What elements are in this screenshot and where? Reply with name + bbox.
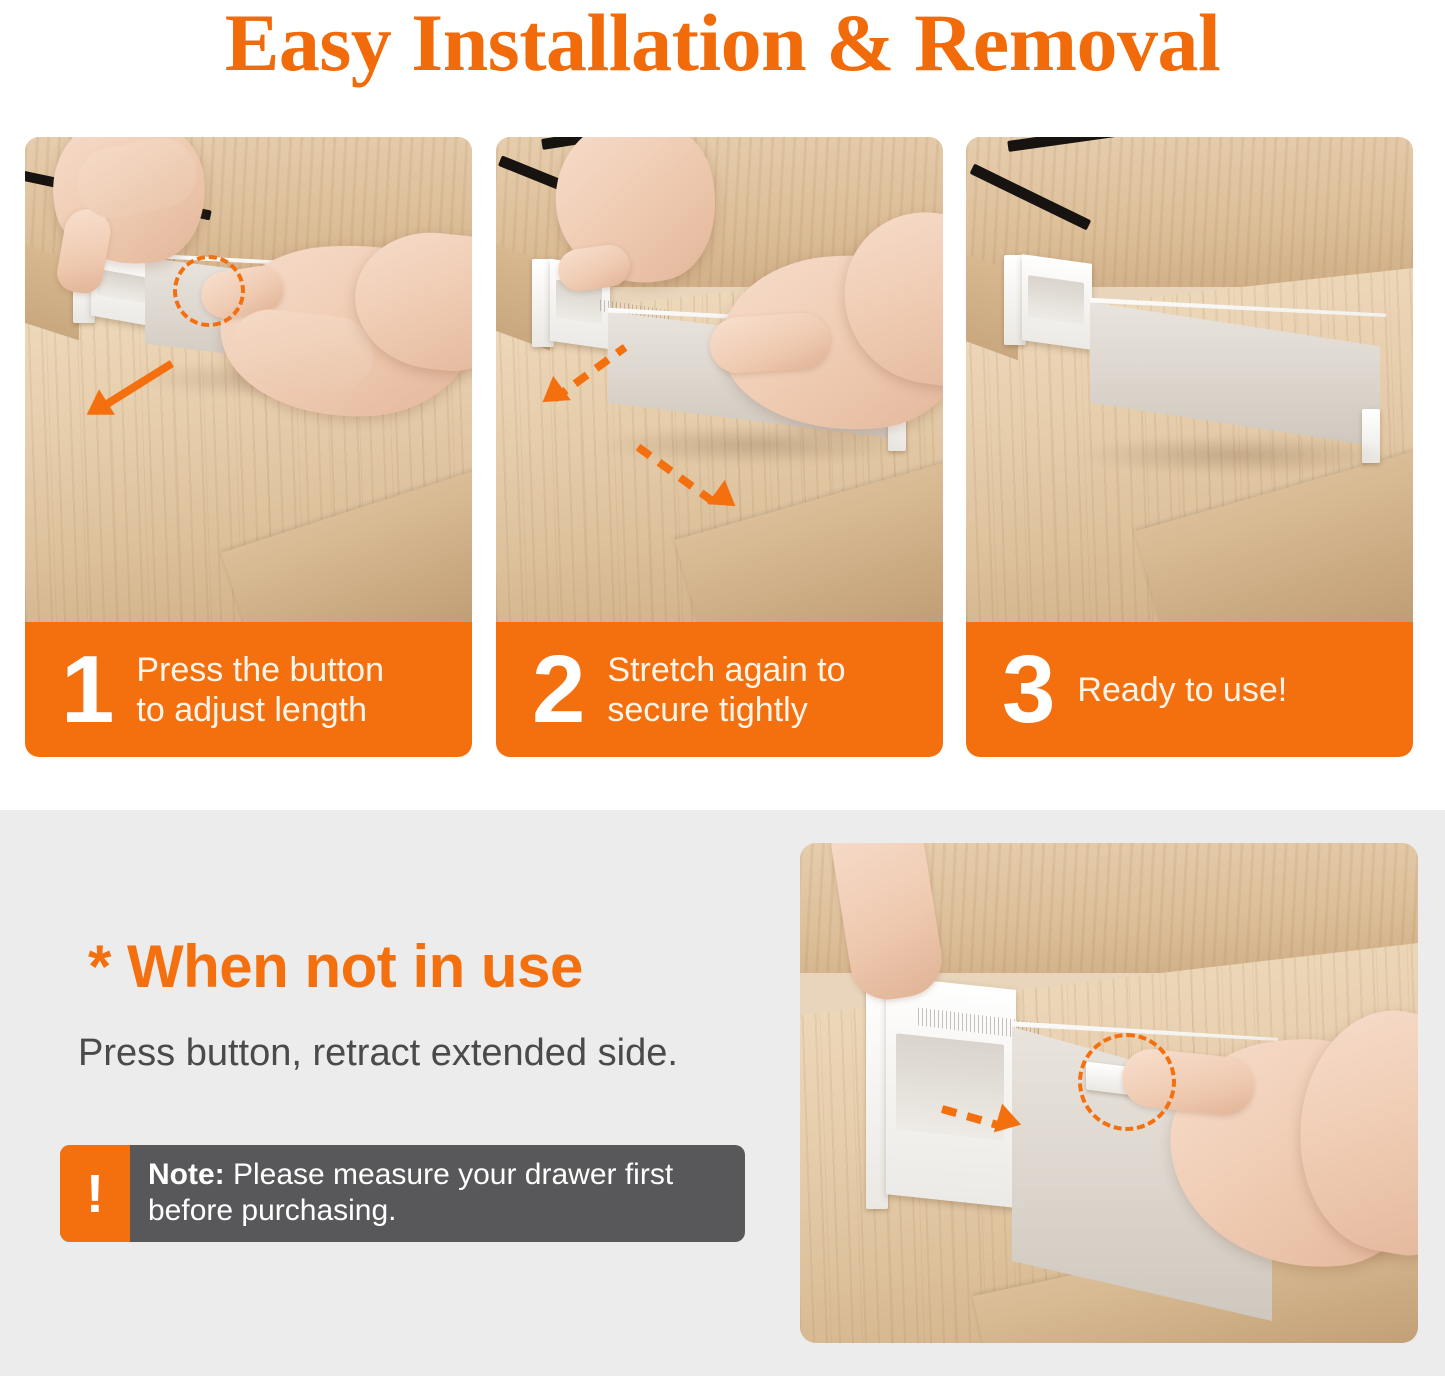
retract-photo	[800, 843, 1418, 1343]
direction-arrow-left	[81, 375, 189, 439]
note-text: Note: Please measure your drawer first b…	[130, 1145, 745, 1242]
divider-arm-groove	[1028, 275, 1084, 325]
direction-arrow-up-left	[532, 355, 652, 435]
step-3-photo	[966, 137, 1413, 622]
step-3-caption-bar: 3 Ready to use!	[966, 622, 1413, 757]
step-1-photo	[25, 137, 472, 622]
step-3-number: 3	[1002, 642, 1055, 738]
divider-shadow	[1076, 435, 1396, 475]
step-1-number: 1	[61, 642, 114, 738]
when-not-in-use-heading: * When not in use	[88, 932, 583, 1001]
retract-subtitle: Press button, retract extended side.	[78, 1032, 678, 1075]
step-1-caption: Press the button to adjust length	[136, 650, 472, 730]
step-card-3: 3 Ready to use!	[966, 137, 1413, 757]
note-body: Please measure your drawer first before …	[148, 1158, 673, 1227]
step-2-number: 2	[532, 642, 585, 738]
step-2-caption-bar: 2 Stretch again to secure tightly	[496, 622, 943, 757]
exclamation-icon: !	[60, 1145, 130, 1242]
step-1-caption-bar: 1 Press the button to adjust length	[25, 622, 472, 757]
note-label: Note:	[148, 1158, 225, 1191]
exclamation-glyph: !	[86, 1167, 104, 1221]
page-title: Easy Installation & Removal	[0, 0, 1445, 90]
step-card-1: 1 Press the button to adjust length	[25, 137, 472, 757]
step-2-caption: Stretch again to secure tightly	[607, 650, 943, 730]
step-2-photo	[496, 137, 943, 622]
divider-left-end-cap	[866, 979, 888, 1209]
direction-arrow-down-right	[632, 427, 762, 523]
step-3-caption: Ready to use!	[1077, 670, 1413, 710]
when-not-in-use-section: * When not in use Press button, retract …	[0, 810, 1445, 1376]
button-highlight-circle	[1078, 1033, 1176, 1131]
installation-steps-section: Easy Installation & Removal	[0, 0, 1445, 810]
note-box: ! Note: Please measure your drawer first…	[60, 1145, 745, 1242]
button-highlight-circle	[173, 255, 245, 327]
direction-arrow-right	[940, 1089, 1056, 1143]
step-card-2: 2 Stretch again to secure tightly	[496, 137, 943, 757]
finger-right-group	[708, 311, 832, 375]
